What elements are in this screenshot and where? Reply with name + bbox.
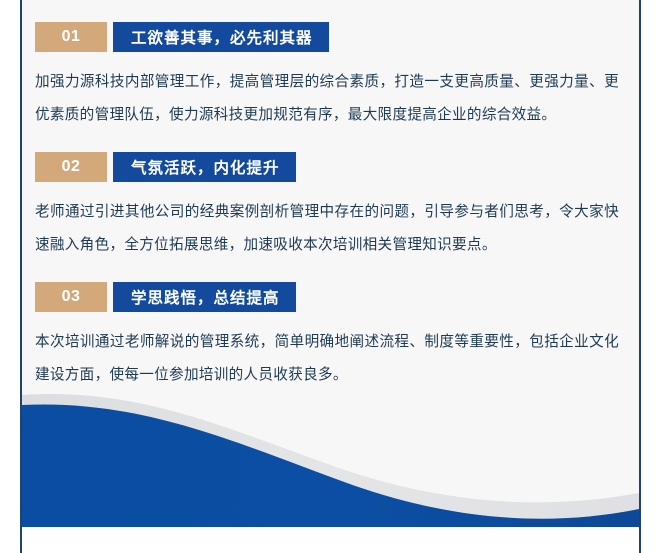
panel-bottom-margin [22, 527, 639, 553]
section-03-header: 03 学思践悟，总结提高 [35, 282, 621, 312]
section-03-body: 本次培训通过老师解说的管理系统，简单明确地阐述流程、制度等重要性，包括企业文化建… [35, 326, 621, 392]
section-02-number-badge: 02 [35, 152, 107, 182]
section-03-title: 学思践悟，总结提高 [113, 282, 296, 312]
section-01-header: 01 工欲善其事，必先利其器 [35, 22, 621, 52]
section-02-title: 气氛活跃，内化提升 [113, 152, 296, 182]
section-01-title: 工欲善其事，必先利其器 [113, 22, 329, 52]
wave-back-layer [22, 394, 639, 527]
section-02-body: 老师通过引进其他公司的经典案例剖析管理中存在的问题，引导参与者们思考，令大家快速… [35, 196, 621, 262]
section-01-number-badge: 01 [35, 22, 107, 52]
section-03-number-badge: 03 [35, 282, 107, 312]
section-01-body: 加强力源科技内部管理工作，提高管理层的综合素质，打造一支更高质量、更强力量、更优… [35, 66, 621, 132]
section-03: 03 学思践悟，总结提高 本次培训通过老师解说的管理系统，简单明确地阐述流程、制… [35, 282, 621, 392]
section-02-header: 02 气氛活跃，内化提升 [35, 152, 621, 182]
section-01: 01 工欲善其事，必先利其器 加强力源科技内部管理工作，提高管理层的综合素质，打… [35, 22, 621, 132]
wave-front-layer [22, 404, 639, 527]
article-page: 01 工欲善其事，必先利其器 加强力源科技内部管理工作，提高管理层的综合素质，打… [0, 0, 662, 553]
article-content: 01 工欲善其事，必先利其器 加强力源科技内部管理工作，提高管理层的综合素质，打… [22, 0, 639, 392]
article-panel: 01 工欲善其事，必先利其器 加强力源科技内部管理工作，提高管理层的综合素质，打… [20, 0, 641, 553]
section-02: 02 气氛活跃，内化提升 老师通过引进其他公司的经典案例剖析管理中存在的问题，引… [35, 152, 621, 262]
